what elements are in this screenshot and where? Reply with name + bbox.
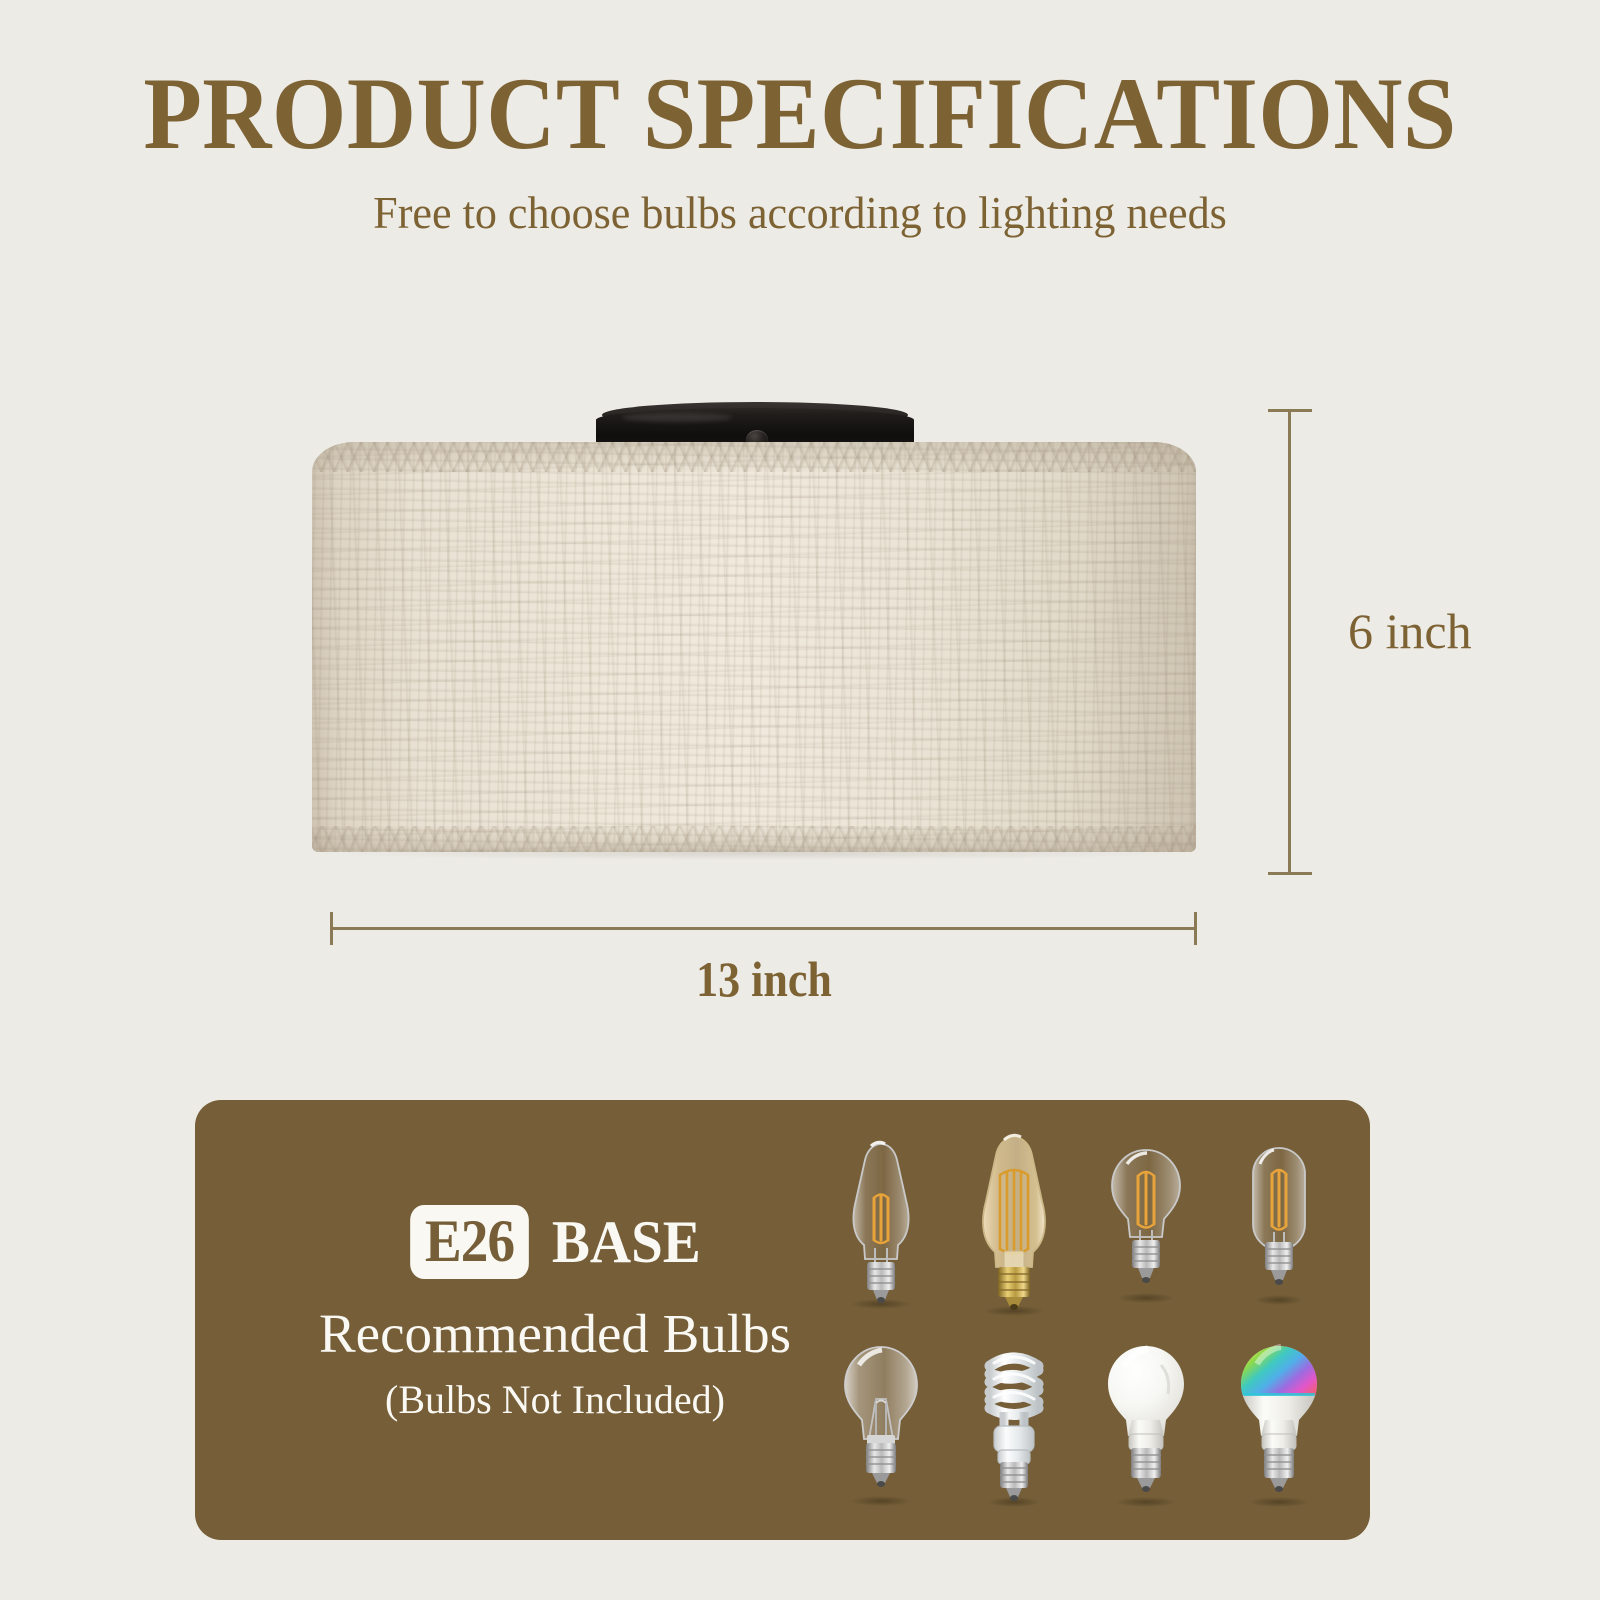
- a19-frosted-led-bulb-icon: [1096, 1340, 1196, 1508]
- linen-drum-shade: [312, 442, 1196, 852]
- dimension-height-line: [1250, 405, 1330, 880]
- product-figure: [0, 380, 1600, 1000]
- dimension-height-label: 6 inch: [1348, 602, 1472, 660]
- e26-headline: E26 BASE: [255, 1205, 855, 1279]
- a19-clear-incandescent-bulb-icon: [833, 1341, 929, 1507]
- bulbs-not-included-note: (Bulbs Not Included): [255, 1379, 855, 1421]
- shade-drop-shadow: [320, 846, 1190, 860]
- dimension-width-cap-right: [1194, 912, 1197, 945]
- e26-base-word: BASE: [552, 1212, 701, 1272]
- dimension-width-label: 13 inch: [380, 950, 1147, 1008]
- bulb-cell: [1213, 1124, 1346, 1324]
- bulb-cell: [948, 1324, 1081, 1524]
- bulb-cell: [1213, 1324, 1346, 1524]
- page-subtitle: Free to choose bulbs according to lighti…: [16, 189, 1584, 239]
- dimension-height-shaft: [1288, 410, 1291, 875]
- dimension-width-line: 13 inch: [328, 910, 1200, 950]
- bulb-cell: [815, 1324, 948, 1524]
- page-title: PRODUCT SPECIFICATIONS: [56, 62, 1544, 167]
- recommended-bulbs-label: Recommended Bulbs: [255, 1305, 855, 1363]
- shade-top-trim: [312, 442, 1196, 472]
- bulb-cell: [948, 1124, 1081, 1324]
- dimension-width-shaft: [331, 927, 1197, 930]
- rgb-smart-color-led-bulb-icon: [1229, 1340, 1329, 1508]
- bulb-cell: [1080, 1124, 1213, 1324]
- bulb-cell: [1080, 1324, 1213, 1524]
- e26-text-column: E26 BASE Recommended Bulbs (Bulbs Not In…: [255, 1205, 855, 1421]
- st64-clear-edison-filament-bulb-icon: [833, 1138, 929, 1310]
- st64-amber-vintage-cage-filament-bulb-icon: [962, 1131, 1066, 1317]
- t45-tubular-filament-bulb-icon: [1239, 1142, 1319, 1306]
- dimension-height-cap-bottom: [1268, 872, 1312, 875]
- header-block: PRODUCT SPECIFICATIONS Free to choose bu…: [0, 62, 1600, 239]
- bulb-cell: [815, 1124, 948, 1324]
- a19-clear-led-filament-bulb-icon: [1100, 1144, 1192, 1304]
- e26-base-panel: E26 BASE Recommended Bulbs (Bulbs Not In…: [195, 1100, 1370, 1540]
- cfl-spiral-bulb-icon: [968, 1340, 1060, 1508]
- recommended-bulb-grid: [815, 1124, 1345, 1524]
- canopy-highlight: [622, 413, 732, 422]
- e26-badge: E26: [410, 1205, 529, 1279]
- product-specification-page: PRODUCT SPECIFICATIONS Free to choose bu…: [0, 0, 1600, 1600]
